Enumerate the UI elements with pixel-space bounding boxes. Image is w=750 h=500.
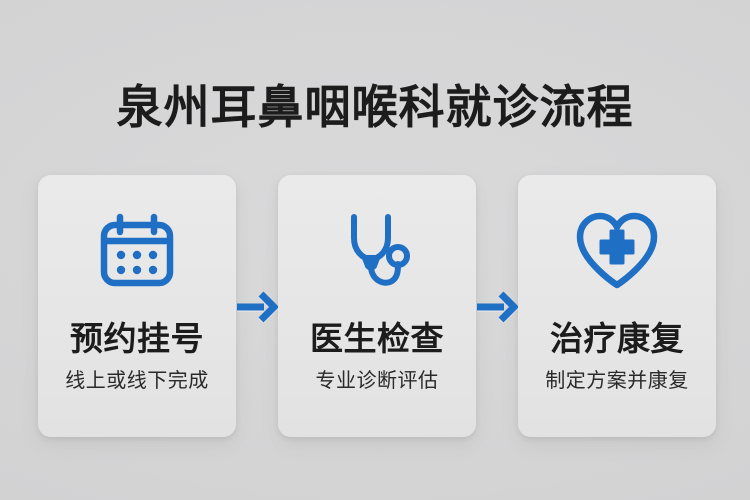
process-flow-row: 预约挂号 线上或线下完成 xyxy=(38,175,712,437)
step-title: 治疗康复 xyxy=(550,321,684,357)
title-container: 泉州耳鼻咽喉科就诊流程 xyxy=(0,52,750,162)
step-card-recovery[interactable]: 治疗康复 制定方案并康复 xyxy=(518,175,716,437)
step-title: 预约挂号 xyxy=(70,321,204,357)
arrow-right-icon xyxy=(476,290,518,324)
calendar-icon xyxy=(87,201,187,301)
step-card-appointment[interactable]: 预约挂号 线上或线下完成 xyxy=(38,175,236,437)
step-subtitle: 线上或线下完成 xyxy=(65,370,209,392)
step-subtitle: 制定方案并康复 xyxy=(545,370,689,392)
stethoscope-icon xyxy=(327,201,427,301)
step-card-examination[interactable]: 医生检查 专业诊断评估 xyxy=(278,175,476,437)
arrow-right-icon xyxy=(236,290,278,324)
page-title: 泉州耳鼻咽喉科就诊流程 xyxy=(117,83,634,131)
connector-2 xyxy=(476,175,518,437)
infographic-canvas: 泉州耳鼻咽喉科就诊流程 xyxy=(0,0,750,500)
step-subtitle: 专业诊断评估 xyxy=(316,370,439,392)
connector-1 xyxy=(236,175,278,437)
step-title: 医生检查 xyxy=(310,321,444,357)
heart-cross-icon xyxy=(567,201,667,301)
